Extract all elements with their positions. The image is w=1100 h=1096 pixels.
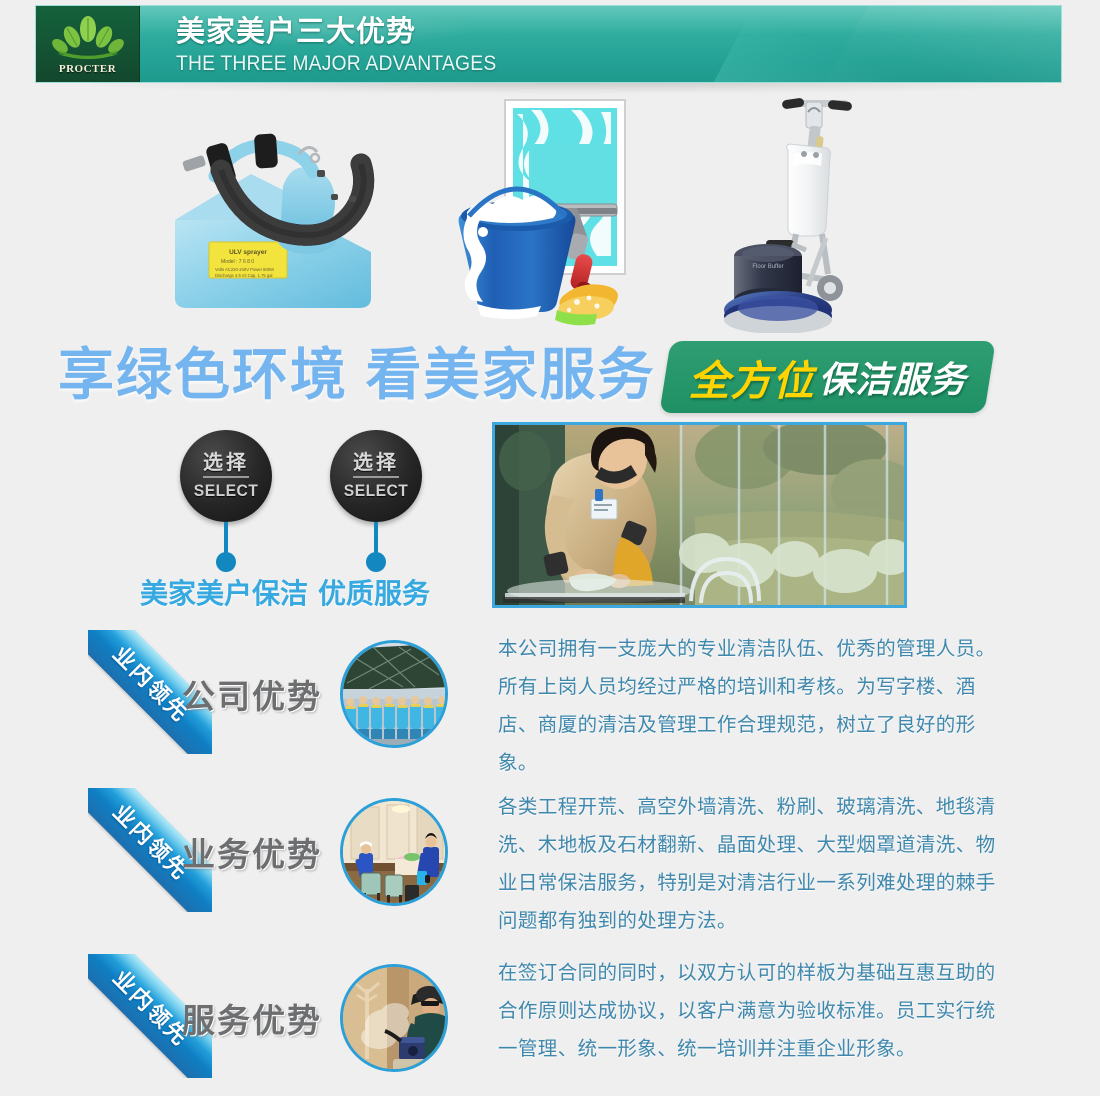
select-pin-dot-1 — [216, 552, 236, 572]
header-title-group: 美家美户三大优势 THE THREE MAJOR ADVANTAGES — [176, 14, 524, 78]
advantage-2-title: 业务优势 — [182, 828, 332, 876]
header-bar: PROCTER 美家美户三大优势 THE THREE MAJOR ADVANTA… — [35, 5, 1062, 83]
full-service-tag-highlight: 全方位 — [688, 347, 814, 407]
select-circle-1-cn: 选择 — [203, 452, 249, 478]
floor-polisher-illustration: Floor Buffer — [722, 88, 887, 333]
cleaning-staff-photo-content — [495, 425, 904, 605]
page-header: PROCTER 美家美户三大优势 THE THREE MAJOR ADVANTA… — [35, 5, 1062, 83]
page-headline: 享绿色环境 看美家服务 — [58, 340, 656, 410]
select-circle-1-en: SELECT — [194, 481, 258, 501]
full-service-tag-rest: 保洁服务 — [818, 351, 966, 403]
select-pin-dot-2 — [366, 552, 386, 572]
svg-text:Discharge 4.5 ml Cap. 1.7: Discharge 4.5 ml Cap. 1.75 gal — [215, 273, 273, 278]
advantage-3-thumb — [340, 964, 448, 1072]
leaf-crown-icon — [51, 16, 125, 64]
advantage-2-text: 各类工程开荒、高空外墙清洗、粉刷、玻璃清洗、地毯清洗、木地板及石材翻新、晶面处理… — [498, 788, 1010, 940]
advantage-3-title: 服务优势 — [182, 994, 332, 1042]
worker-spraying-photo — [343, 967, 448, 1072]
svg-text:ULV sprayer: ULV sprayer — [229, 249, 267, 256]
advantage-3-text: 在签订合同的同时，以双方认可的样板为基础互惠互助的合作原则达成协议，以客户满意为… — [498, 954, 1010, 1068]
logo-wordmark: PROCTER — [59, 63, 116, 75]
company-logo: PROCTER — [36, 6, 140, 83]
advantage-1-text: 本公司拥有一支庞大的专业清洁队伍、优秀的管理人员。所有上岗人员均经过严格的培训和… — [498, 630, 1010, 782]
select-circle-2-cn: 选择 — [353, 452, 399, 478]
product-image-floor-polisher: Floor Buffer — [722, 88, 887, 333]
header-title-en: THE THREE MAJOR ADVANTAGES — [176, 50, 496, 78]
svg-text:Floor Buffer: Floor Buffer — [752, 264, 783, 270]
product-image-window-cleaning — [437, 96, 682, 331]
header-title-cn: 美家美户三大优势 — [176, 14, 524, 50]
staff-team-photo — [343, 643, 448, 748]
advantage-1-title: 公司优势 — [182, 670, 332, 718]
svg-text:Model : 7 6 8 0: Model : 7 6 8 0 — [221, 259, 254, 265]
advantage-1-thumb — [340, 640, 448, 748]
ulv-sprayer-illustration: ULV sprayer Model : 7 6 8 0 Volts AC220-… — [163, 102, 403, 327]
select-badge-1[interactable]: 选择 SELECT — [180, 430, 272, 522]
window-cleaning-illustration — [437, 96, 682, 331]
svg-text:Volts AC220-240V Power 800W: Volts AC220-240V Power 800W — [215, 267, 274, 272]
select-circle-1[interactable]: 选择 SELECT — [180, 430, 272, 522]
select-circle-2[interactable]: 选择 SELECT — [330, 430, 422, 522]
advantage-2-thumb — [340, 798, 448, 906]
full-service-tag: 全方位 保洁服务 — [659, 341, 995, 413]
cleaning-staff-photo — [492, 422, 907, 608]
advantages-infographic-page: PROCTER 美家美户三大优势 THE THREE MAJOR ADVANTA… — [0, 0, 1100, 1096]
select-label-2: 优质服务 — [318, 572, 430, 612]
select-label-1: 美家美户保洁 — [140, 572, 308, 612]
select-badge-2[interactable]: 选择 SELECT — [330, 430, 422, 522]
indoor-cleaning-photo — [343, 801, 448, 906]
product-image-ulv-sprayer: ULV sprayer Model : 7 6 8 0 Volts AC220-… — [163, 102, 403, 327]
select-circle-2-en: SELECT — [344, 481, 408, 501]
